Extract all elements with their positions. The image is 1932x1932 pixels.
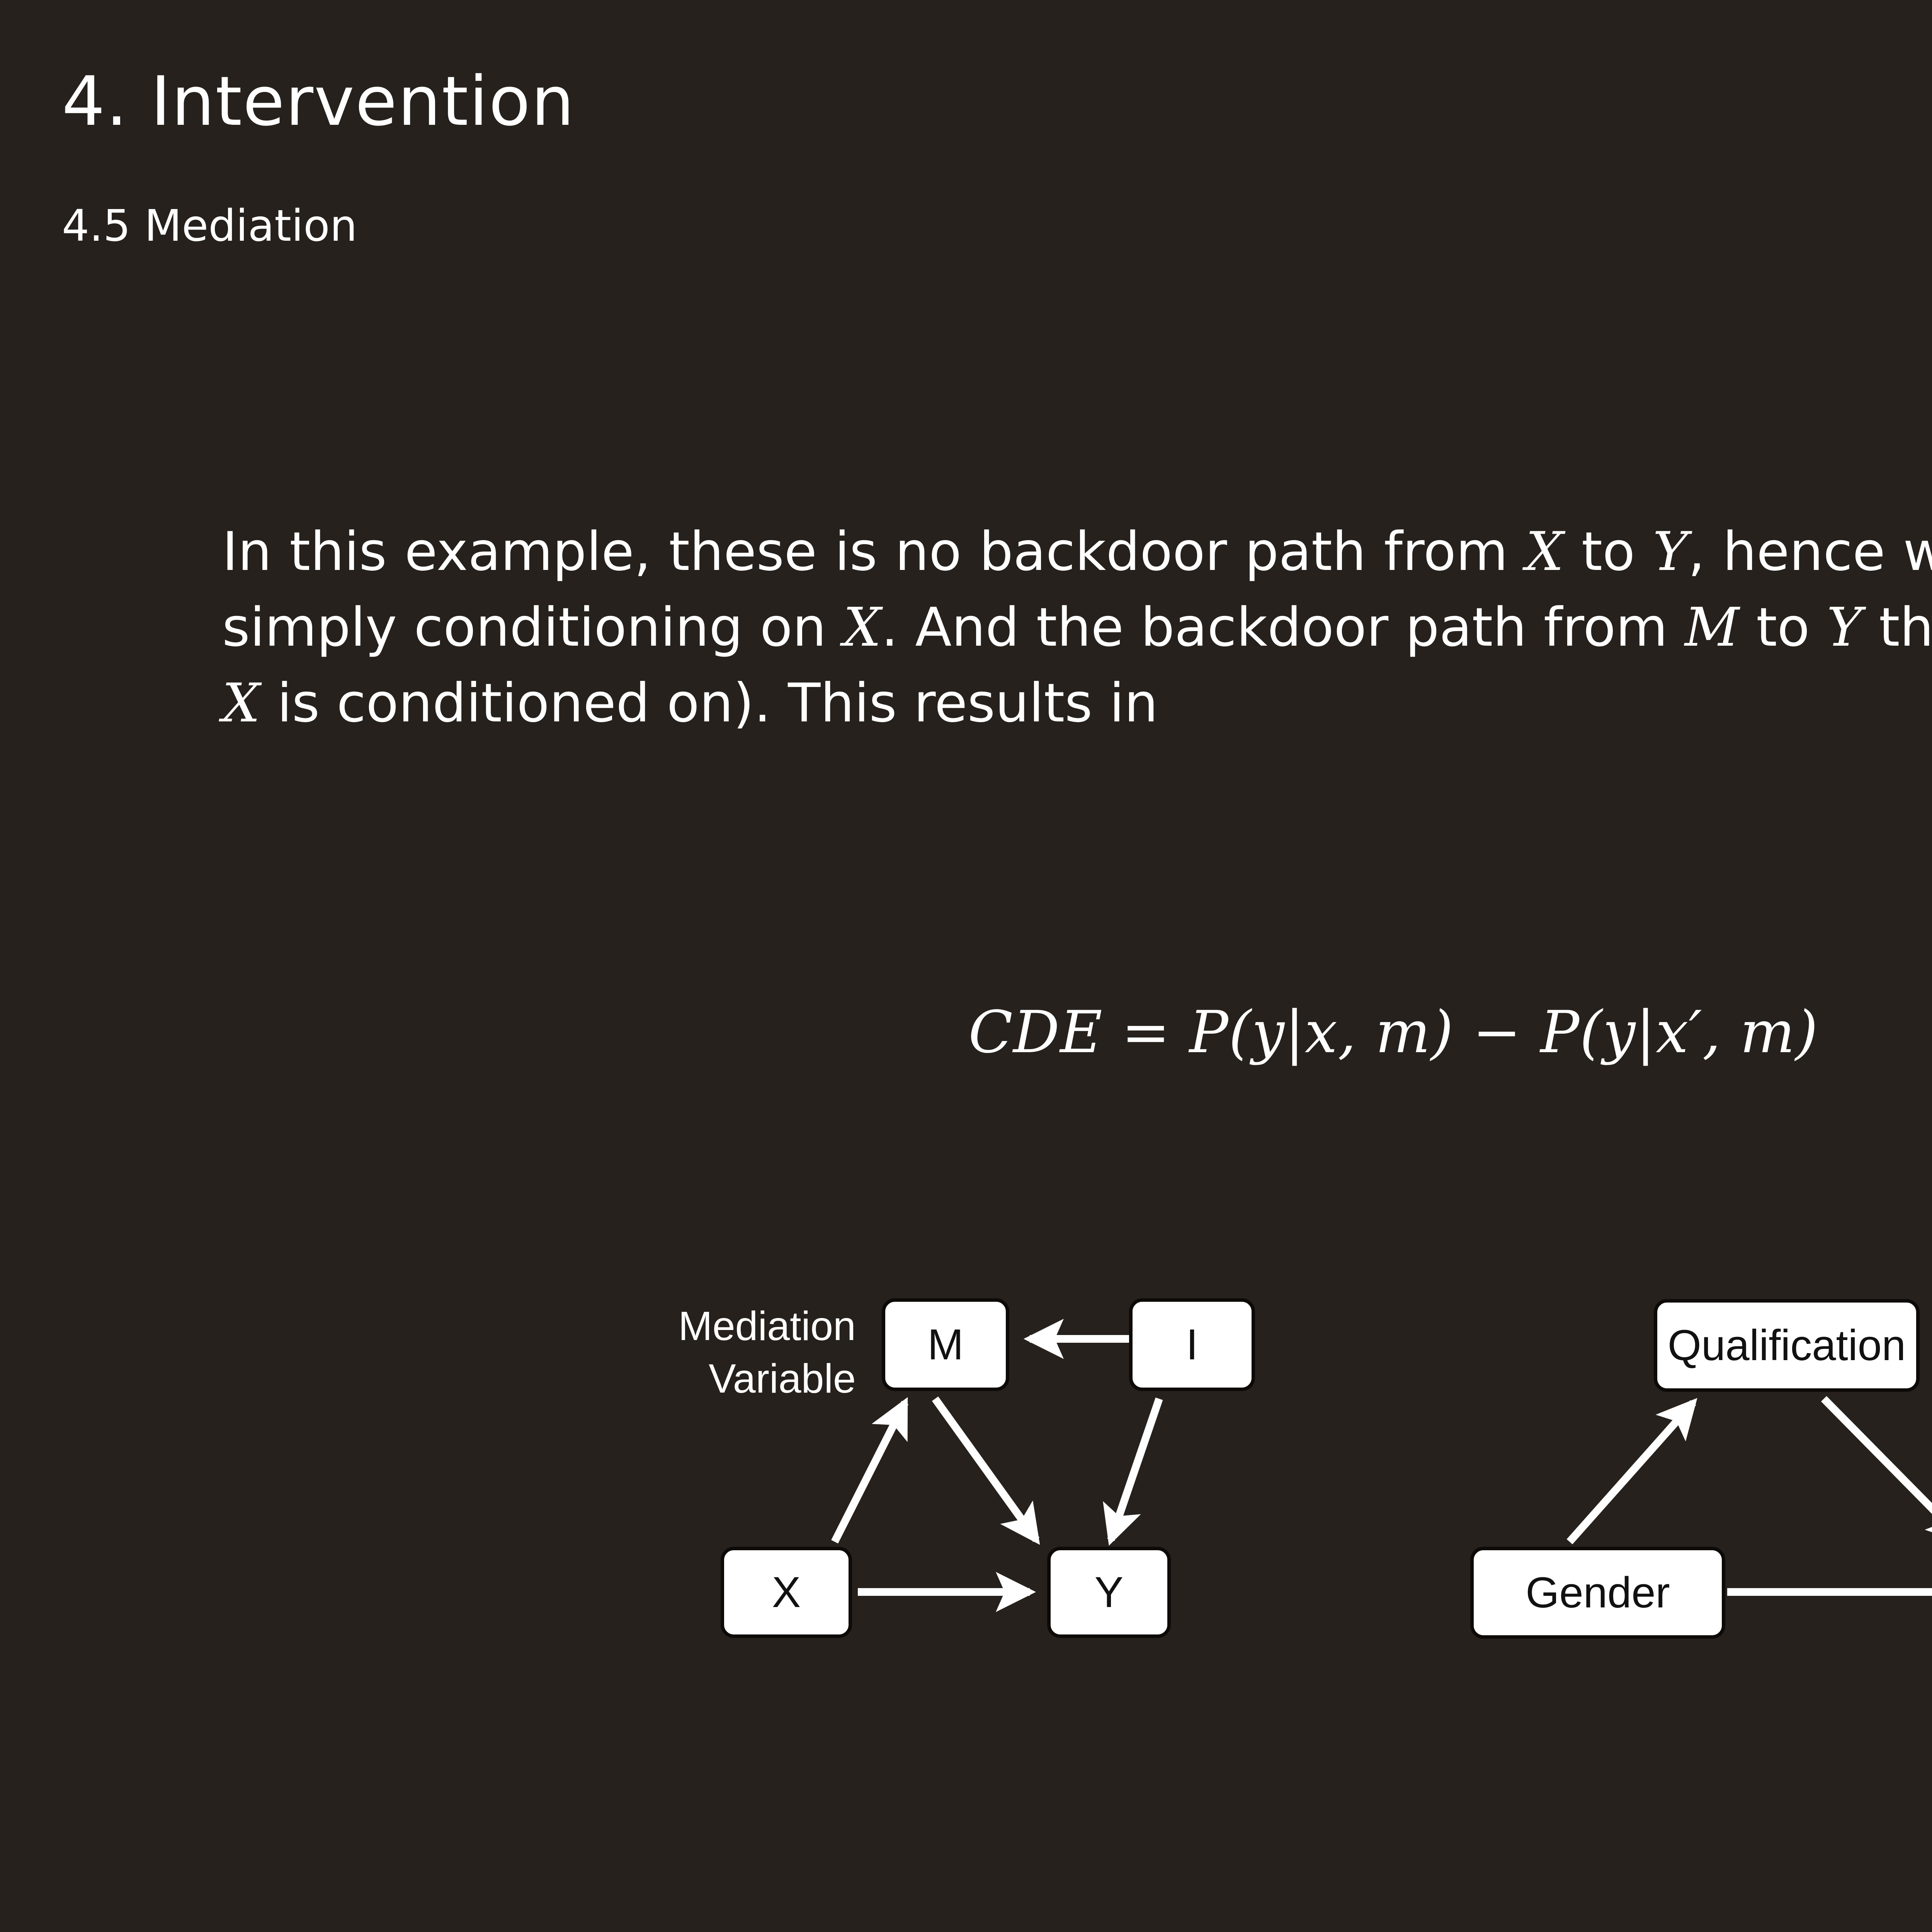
equation-cde: CDE = P(y|x, m) − P(y|x′, m)	[0, 999, 1932, 1066]
page-title: 4. Intervention	[62, 62, 575, 141]
diagram-hiring-example-dag: Qualification Gender Hiring	[1464, 1287, 1932, 1658]
node-m-label: M	[927, 1323, 963, 1366]
node-gender-label: Gender	[1526, 1571, 1670, 1614]
node-gender[interactable]: Gender	[1470, 1547, 1725, 1639]
node-i[interactable]: I	[1129, 1298, 1255, 1391]
node-y-label: Y	[1095, 1571, 1124, 1614]
node-i-label: I	[1186, 1323, 1198, 1366]
node-x-label: X	[772, 1571, 801, 1614]
edge-m-to-y	[935, 1399, 1036, 1540]
edge-i-to-y	[1111, 1399, 1159, 1540]
node-x[interactable]: X	[721, 1547, 852, 1638]
edge-x-to-m	[835, 1403, 905, 1542]
page-subtitle: 4.5 Mediation	[62, 201, 357, 251]
node-m[interactable]: M	[882, 1298, 1009, 1391]
node-qualification-label: Qualification	[1668, 1324, 1906, 1367]
diagram-abstract-mediation-dag: M I X Y	[703, 1287, 1198, 1658]
edge-gender-to-qualification	[1570, 1403, 1693, 1542]
node-y[interactable]: Y	[1047, 1547, 1171, 1638]
node-qualification[interactable]: Qualification	[1654, 1299, 1920, 1392]
edge-qualification-to-hiring	[1824, 1399, 1932, 1540]
body-paragraph: In this example, these is no backdoor pa…	[222, 514, 1932, 741]
